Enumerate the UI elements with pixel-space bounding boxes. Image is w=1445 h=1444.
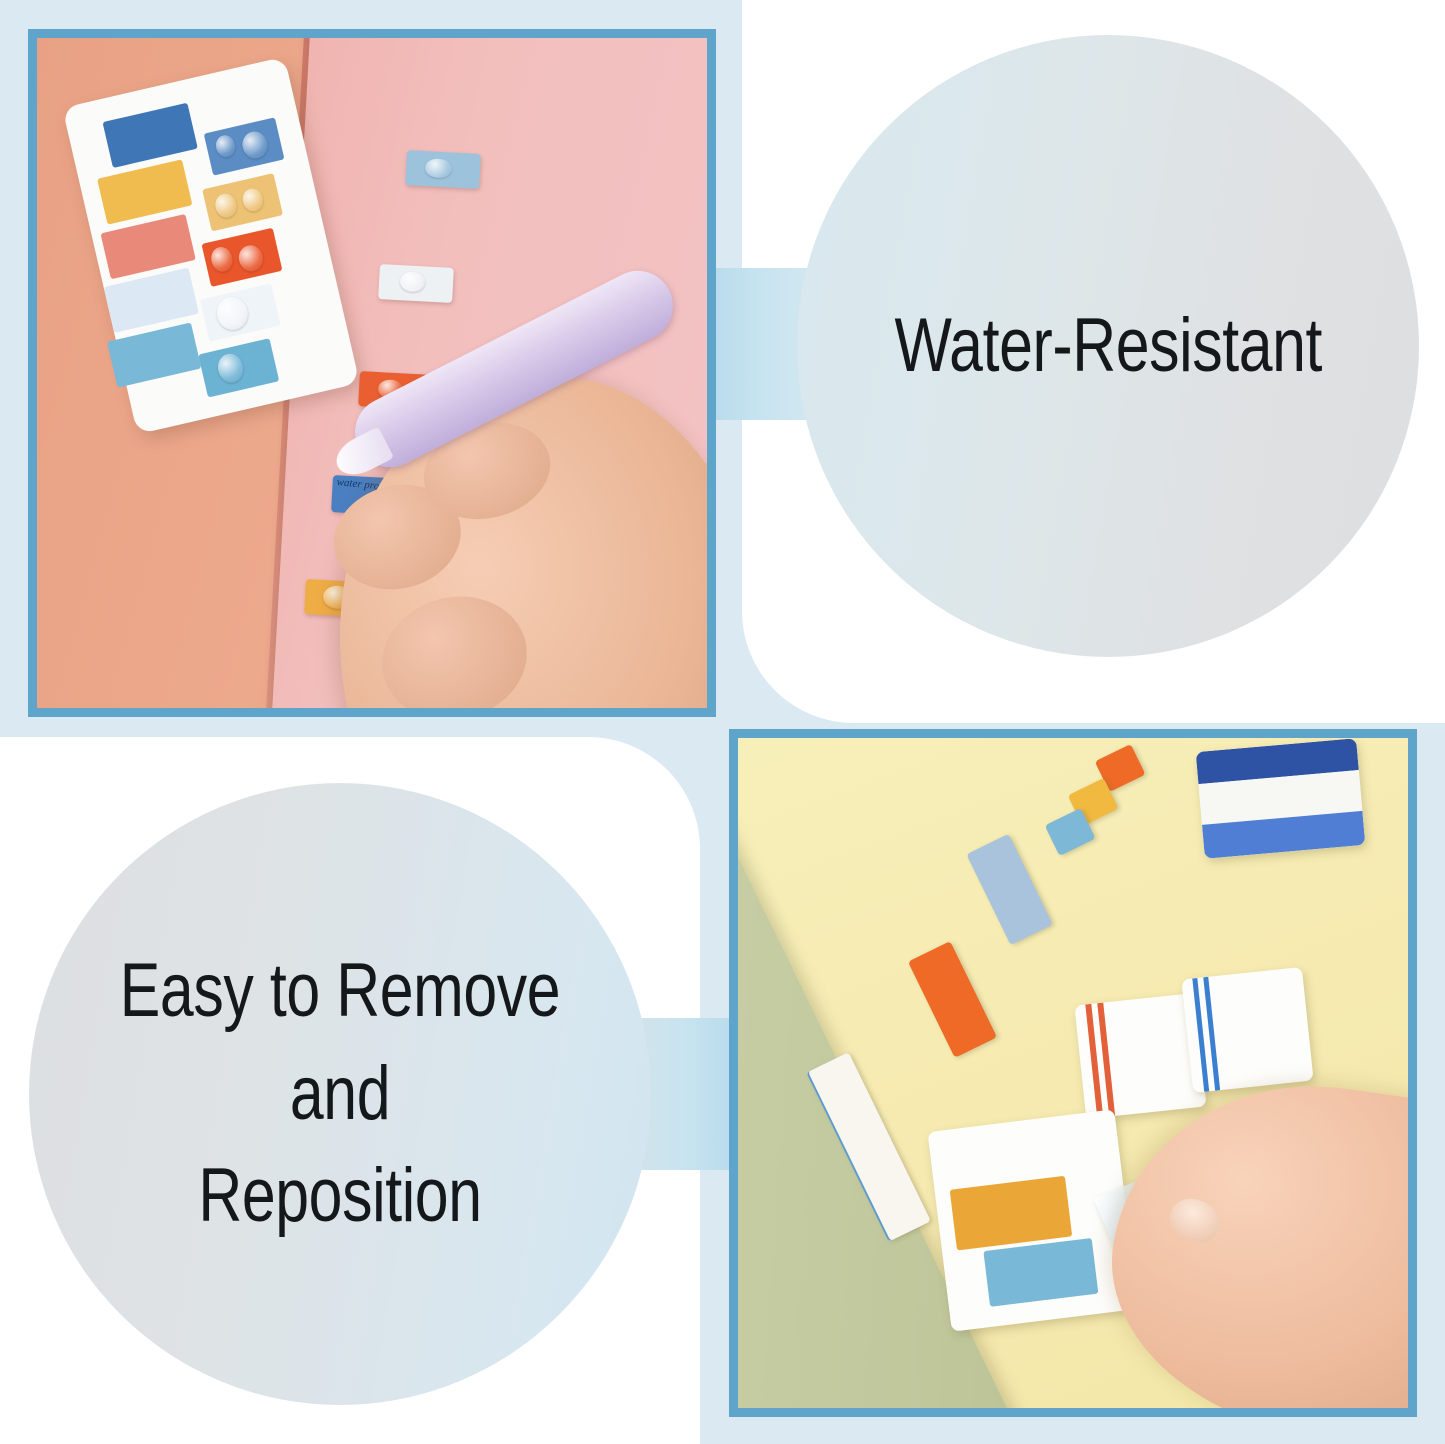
page-tab-clear bbox=[378, 264, 453, 303]
flag-card-blue bbox=[1196, 738, 1366, 859]
knuckle bbox=[368, 582, 539, 708]
sheet-droplet-tab-blue bbox=[204, 117, 285, 176]
water-droplet bbox=[241, 187, 266, 214]
water-droplet bbox=[399, 271, 425, 292]
photo-panel-writing-on-tab: water proof bbox=[28, 29, 716, 717]
photo-panel-peeling-tab bbox=[729, 729, 1417, 1417]
water-droplet bbox=[237, 244, 266, 275]
feature-circle-easy-to-remove: Easy to Remove and Reposition bbox=[29, 783, 651, 1405]
page-tab-sky bbox=[405, 150, 480, 189]
collage-stage: water proof bbox=[0, 0, 1445, 1444]
water-droplet bbox=[214, 294, 251, 333]
sheet-droplet-tab-clear bbox=[200, 283, 281, 342]
feature-label-easy-to-remove: Easy to Remove and Reposition bbox=[91, 940, 589, 1248]
water-droplet bbox=[240, 129, 270, 161]
photo-writing-on-tab-image: water proof bbox=[37, 38, 707, 708]
feature-label-water-resistant: Water-Resistant bbox=[894, 302, 1322, 389]
water-droplet bbox=[214, 134, 237, 159]
water-droplet bbox=[213, 192, 238, 219]
flag-band-yellow bbox=[950, 1176, 1073, 1250]
sheet-droplet-tab-yellow bbox=[203, 173, 284, 232]
feature-circle-water-resistant: Water-Resistant bbox=[797, 35, 1419, 657]
sheet-tab-blue bbox=[103, 103, 198, 168]
flag-band-sky bbox=[984, 1237, 1099, 1306]
water-droplet bbox=[424, 158, 451, 179]
flag-card-blue-stripe bbox=[1181, 967, 1313, 1093]
photo-peeling-tab-image bbox=[738, 738, 1408, 1408]
sheet-tab-sky bbox=[107, 322, 202, 387]
water-droplet bbox=[209, 245, 236, 275]
sheet-droplet-tab-sky bbox=[199, 339, 280, 398]
water-droplet bbox=[216, 352, 247, 386]
sheet-droplet-tab-orange bbox=[202, 228, 283, 287]
